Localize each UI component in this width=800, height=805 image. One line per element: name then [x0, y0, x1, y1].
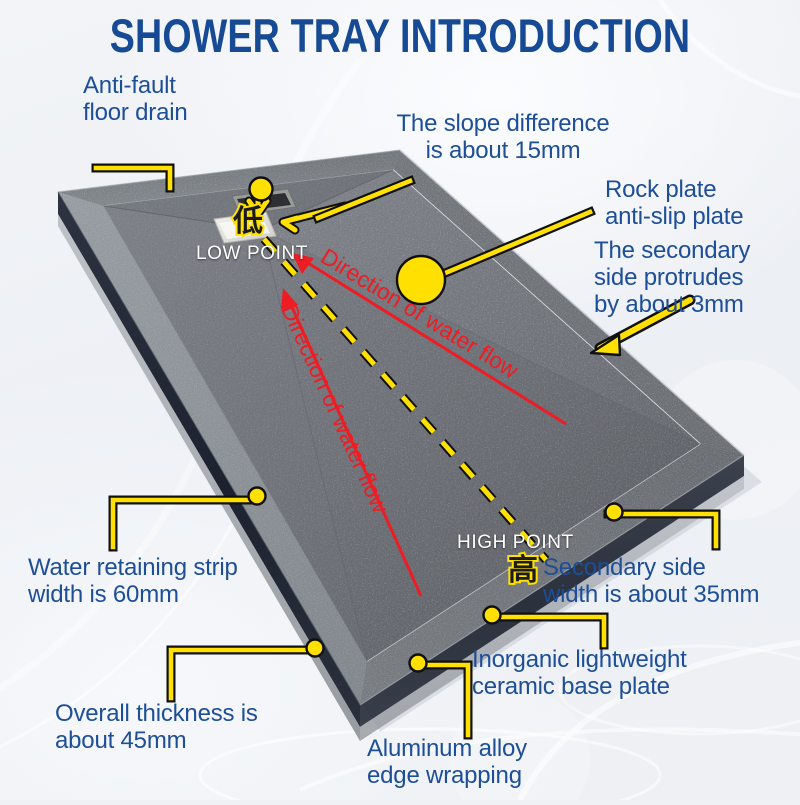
callout-secondary-side-protrudes: The secondary side protrudes by about 3m… [594, 237, 750, 318]
callout-secondary-side-width: Secondary side width is about 35mm [543, 554, 759, 608]
callout-inorganic-base-plate: Inorganic lightweight ceramic base plate [472, 646, 687, 700]
callout-anti-fault-floor-drain: Anti-fault floor drain [83, 72, 188, 126]
anchor-dot-aluminum-edge [410, 655, 427, 672]
callout-rock-plate-anti-slip: Rock plate anti-slip plate [605, 176, 743, 230]
callout-overall-thickness: Overall thickness is about 45mm [55, 700, 258, 754]
anchor-dot-secondary-side-width [606, 504, 623, 521]
anchor-dot-overall-thickness [307, 640, 324, 657]
infographic-canvas: SHOWER TRAY INTRODUCTION [0, 0, 800, 800]
anchor-dot-water-retaining-strip [249, 488, 266, 505]
callout-aluminum-alloy-edge: Aluminum alloy edge wrapping [367, 735, 527, 789]
callout-slope-difference: The slope difference is about 15mm [378, 110, 628, 164]
anchor-dot-rock-plate [397, 256, 445, 304]
anchor-dot-floor-drain [250, 178, 273, 201]
callout-water-retaining-strip: Water retaining strip width is 60mm [28, 554, 238, 608]
anchor-dot-inorganic-base-plate [484, 607, 501, 624]
